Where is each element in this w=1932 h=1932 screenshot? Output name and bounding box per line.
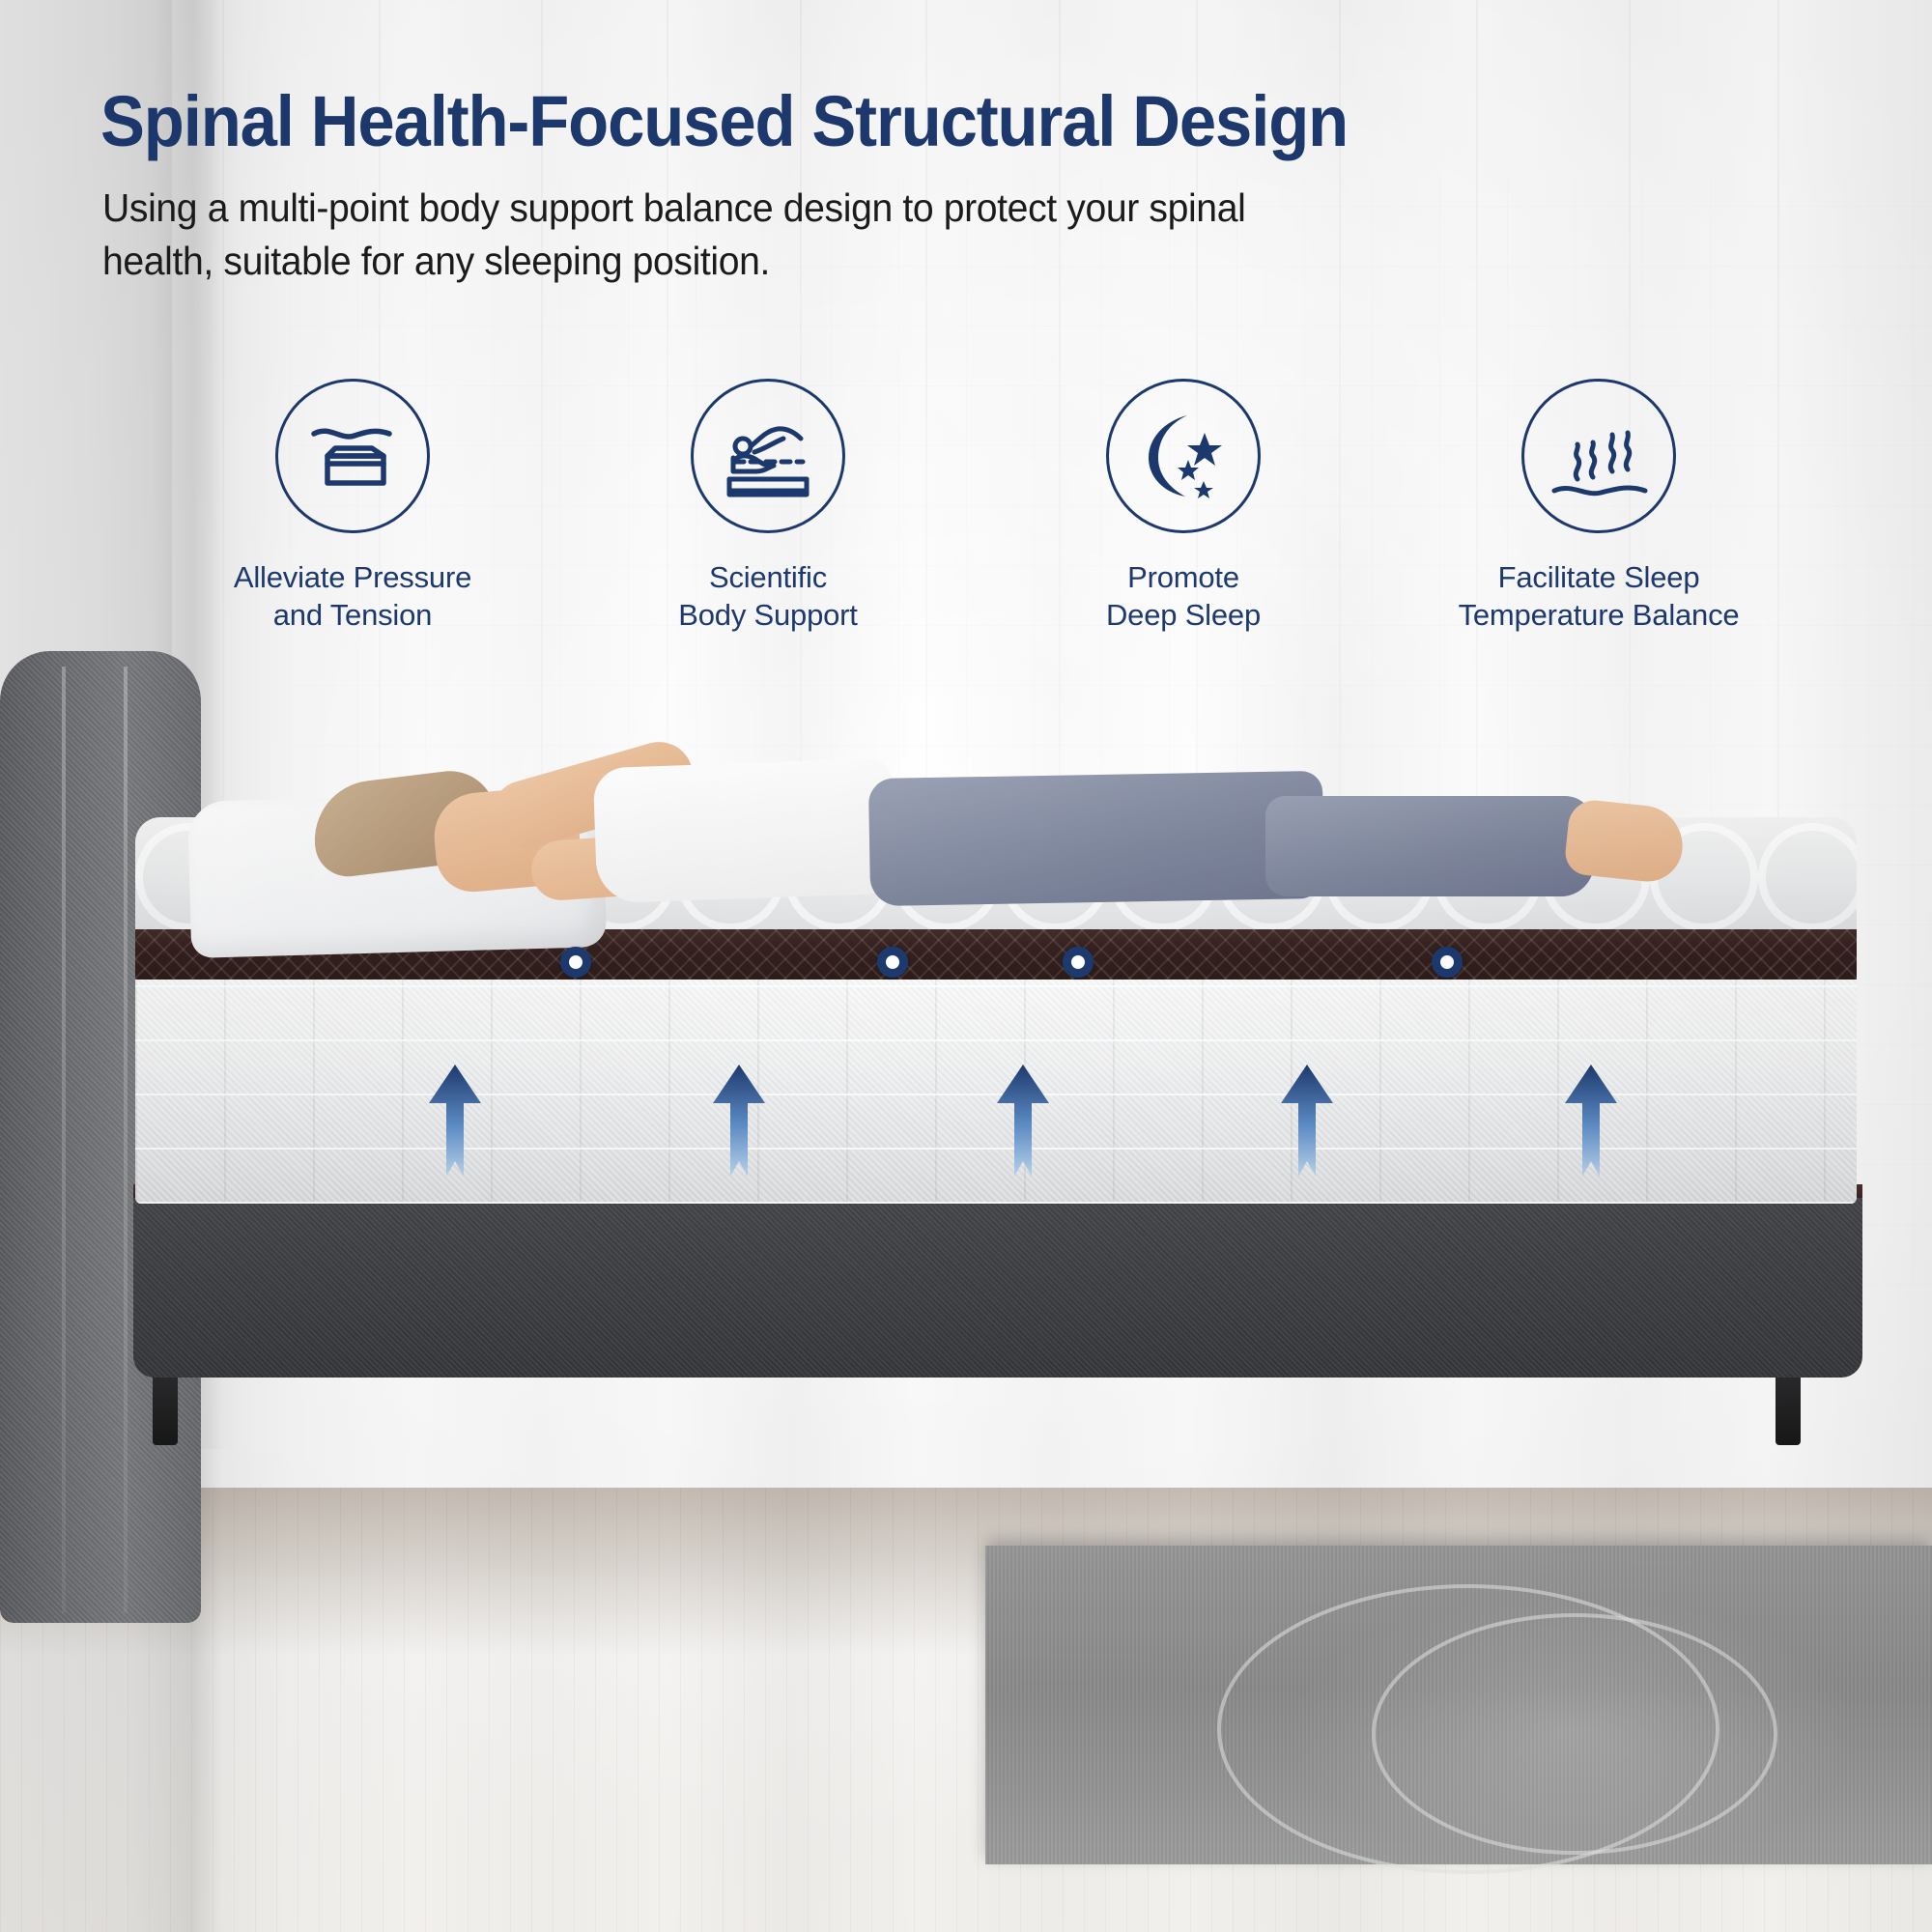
heat-waves-icon [1521, 379, 1676, 533]
bed-leg [153, 1374, 178, 1445]
feature-item-temperature-balance: Facilitate Sleep Temperature Balance [1391, 379, 1806, 634]
bed-base-texture [133, 1192, 1862, 1378]
support-arrow [1279, 1065, 1335, 1177]
headboard-seam [124, 667, 128, 1613]
support-arrow [1563, 1065, 1619, 1177]
bed-leg [1776, 1374, 1801, 1445]
support-point-marker [877, 947, 908, 978]
body-support-icon [691, 379, 845, 533]
infographic-canvas: Spinal Health-Focused Structural Design … [0, 0, 1932, 1932]
feature-label: Scientific Body Support [678, 558, 857, 634]
support-point-marker [1063, 947, 1094, 978]
person-foot [1563, 798, 1686, 885]
headboard-seam [62, 667, 66, 1613]
person-pants-leg [1265, 796, 1594, 896]
feature-label: Alleviate Pressure and Tension [234, 558, 471, 634]
page-title: Spinal Health-Focused Structural Design [100, 85, 1718, 157]
sleeping-person [290, 753, 1488, 956]
person-pants-hip [868, 771, 1324, 906]
person-top [593, 758, 897, 904]
feature-list: Alleviate Pressure and Tension Scientifi… [145, 379, 1806, 620]
feature-label: Facilitate Sleep Temperature Balance [1459, 558, 1740, 634]
support-point-marker [560, 947, 591, 978]
support-arrow [995, 1065, 1051, 1177]
feature-label: Promote Deep Sleep [1106, 558, 1261, 634]
support-arrow [427, 1065, 483, 1177]
mattress-wave-icon [275, 379, 430, 533]
moon-stars-icon [1106, 379, 1261, 533]
feature-item-alleviate-pressure: Alleviate Pressure and Tension [145, 379, 560, 634]
feature-item-body-support: Scientific Body Support [560, 379, 976, 634]
bedroom-scene [0, 811, 1932, 1932]
support-point-marker [1432, 947, 1463, 978]
rug-pattern [1372, 1613, 1777, 1855]
page-subtitle: Using a multi-point body support balance… [102, 182, 1348, 287]
feature-item-deep-sleep: Promote Deep Sleep [976, 379, 1391, 634]
support-arrow [711, 1065, 767, 1177]
